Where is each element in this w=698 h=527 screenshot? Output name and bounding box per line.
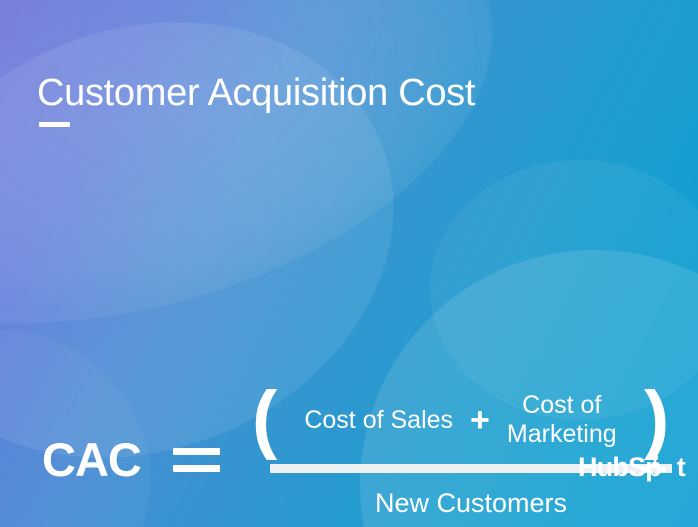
numerator-cost-of-marketing: Cost of Marketing (507, 391, 617, 449)
page-title: Customer Acquisition Cost (37, 70, 475, 116)
parenthesis-close: ) (644, 381, 669, 457)
parenthesis-open: ( (252, 381, 277, 457)
plus-sign-icon: + (470, 405, 490, 435)
denominator-line1: New Customers (375, 488, 567, 518)
title-underline-accent (39, 122, 70, 127)
numerator-cost-of-sales: Cost of Sales (304, 405, 453, 435)
formula-term-cac: CAC (42, 436, 141, 483)
equals-sign-icon (173, 448, 220, 474)
formula-denominator: New Customers Acquired (270, 484, 672, 527)
hubspot-wordmark-tail: t (677, 452, 685, 482)
hubspot-logo: HubSpot (578, 452, 682, 482)
formula-numerator: Cost of Sales + Cost of Marketing (283, 386, 638, 454)
hubspot-sprocket-icon (640, 447, 670, 477)
numerator-cost-of-marketing-line2: Marketing (507, 420, 617, 448)
title-block: Customer Acquisition Cost (37, 70, 475, 127)
slide-canvas: Customer Acquisition Cost CAC ( ) Cost o… (0, 0, 698, 527)
formula-region: CAC ( ) Cost of Sales + Cost of Marketin… (0, 190, 698, 390)
numerator-cost-of-marketing-line1: Cost of (522, 391, 601, 419)
